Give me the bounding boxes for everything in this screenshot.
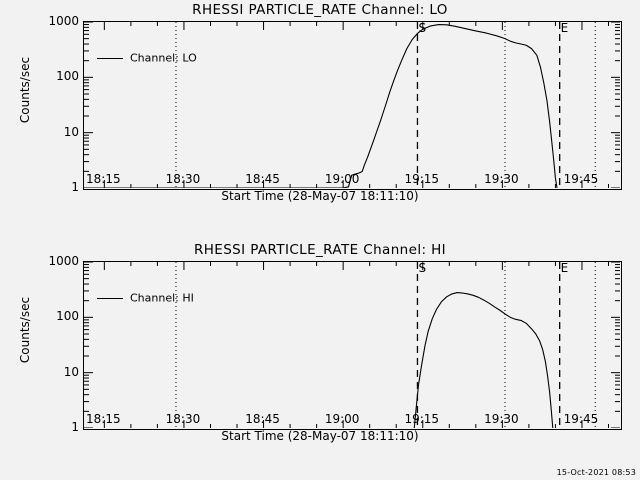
plot-frame-lo (83, 21, 622, 190)
x-tick-label: 18:45 (245, 413, 280, 425)
x-tick-label: 19:15 (404, 173, 439, 185)
x-tick-label: 18:15 (86, 173, 121, 185)
legend-lo: Channel: LO (97, 51, 197, 65)
x-tick-label: 18:30 (166, 173, 201, 185)
plot-canvas-hi (84, 262, 620, 428)
y-tick-label: 10 (19, 126, 79, 138)
x-tick-label: 19:45 (564, 413, 599, 425)
panel-title-lo: RHESSI PARTICLE_RATE Channel: LO (0, 2, 640, 18)
x-tick-label: 19:00 (325, 413, 360, 425)
y-tick-label: 1 (19, 421, 79, 433)
legend-line-sample (97, 298, 123, 299)
x-tick-label: 19:30 (484, 173, 519, 185)
marker-label-start: S (418, 22, 426, 34)
marker-label-start: S (418, 262, 426, 274)
y-tick-label: 10 (19, 366, 79, 378)
plot-canvas-lo (84, 22, 620, 188)
x-axis-label-hi: Start Time (28-May-07 18:11:10) (0, 429, 640, 443)
panel-channel-hi: RHESSI PARTICLE_RATE Channel: HI Counts/… (0, 240, 640, 480)
x-tick-label: 19:45 (564, 173, 599, 185)
x-tick-label: 19:15 (404, 413, 439, 425)
plot-page: RHESSI PARTICLE_RATE Channel: LO Counts/… (0, 0, 640, 480)
legend-label-hi: Channel: HI (130, 292, 194, 305)
y-tick-label: 1000 (19, 255, 79, 267)
panel-channel-lo: RHESSI PARTICLE_RATE Channel: LO Counts/… (0, 0, 640, 240)
marker-label-end: E (561, 262, 569, 274)
legend-label-lo: Channel: LO (130, 52, 197, 65)
x-axis-label-lo: Start Time (28-May-07 18:11:10) (0, 189, 640, 203)
x-tick-label: 19:00 (325, 173, 360, 185)
legend-hi: Channel: HI (97, 291, 194, 305)
y-tick-label: 1000 (19, 15, 79, 27)
panel-title-hi: RHESSI PARTICLE_RATE Channel: HI (0, 242, 640, 258)
x-tick-label: 18:30 (166, 413, 201, 425)
marker-label-end: E (561, 22, 569, 34)
x-tick-label: 18:45 (245, 173, 280, 185)
y-tick-label: 1 (19, 181, 79, 193)
x-tick-label: 18:15 (86, 413, 121, 425)
render-timestamp: 15-Oct-2021 08:53 (557, 468, 636, 477)
plot-frame-hi (83, 261, 622, 430)
y-tick-label: 100 (19, 70, 79, 82)
x-tick-label: 19:30 (484, 413, 519, 425)
legend-line-sample (97, 58, 123, 59)
y-tick-label: 100 (19, 310, 79, 322)
